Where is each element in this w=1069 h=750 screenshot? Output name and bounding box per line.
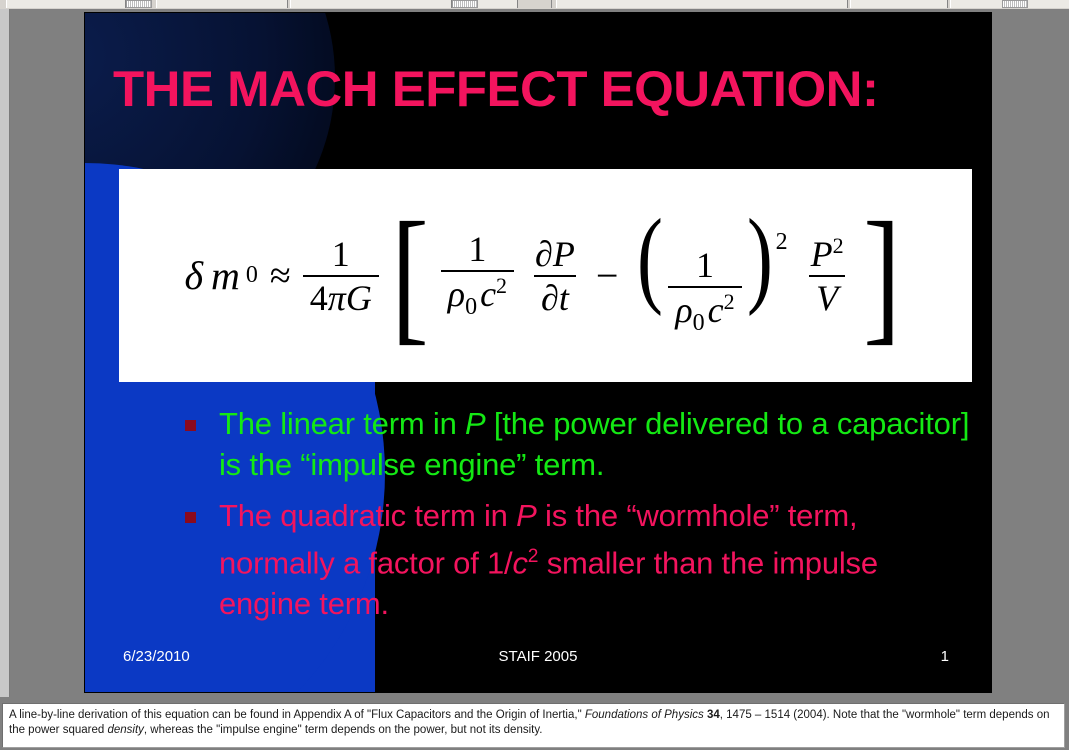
equation-image-box: δ m0 ≈ 1 4πG [ 1 ρ0c2 ∂P ∂t − [119,169,972,382]
term1-rho: ρ [448,274,465,314]
equation-prefactor: 1 4πG [303,236,379,316]
bullet-item-quadratic-term: The quadratic term in P is the “wormhole… [185,495,975,624]
toolbar-group-5[interactable] [556,0,848,8]
term2-inverse-rho-c2: 1 ρ0c2 [668,247,741,335]
equation-open-bracket: [ [391,214,428,337]
term2-V: V [809,275,845,316]
toolbar-group-6[interactable] [850,0,948,8]
bullet-list: The linear term in P [the power delivere… [185,403,975,634]
term2-paren-group: ( 1 ρ0c2 ) 2 [632,215,787,335]
caption-panel[interactable]: A line-by-line derivation of this equati… [2,703,1065,748]
term2-open-paren: ( [637,215,663,301]
derivative-partial-bottom: ∂ [541,278,559,318]
toolbar-chip-3[interactable] [1002,0,1028,8]
term2-P2-over-V: P2 V [804,235,851,316]
term2-rho: ρ [675,290,692,330]
derivative-t: t [559,278,569,318]
term2-numerator: 1 [689,247,721,286]
equation-relation: ≈ [264,254,297,298]
prefactor-pi: π [328,278,346,318]
caption-volume: 34 [707,709,720,721]
equation-mass-subscript: 0 [246,262,258,289]
toolbar-group-2[interactable] [156,0,288,8]
slide-title: THE MACH EFFECT EQUATION: [113,61,990,117]
toolbar-separator-1 [551,0,552,8]
bullet-text-quadratic: The quadratic term in P is the “wormhole… [219,495,975,624]
term2-close-paren: ) [747,215,773,301]
term2-paren-exponent: 2 [776,229,788,256]
equation-delta: δ [184,252,203,299]
prefactor-denominator: 4πG [303,275,379,316]
bullet-text-linear: The linear term in P [the power delivere… [219,403,975,485]
caption-text: A line-by-line derivation of this equati… [9,708,1059,738]
term1-c: c [480,274,496,314]
toolbar-group-3[interactable] [290,0,452,8]
left-rail [0,9,10,697]
footer-conference: STAIF 2005 [85,648,991,665]
toolbar-chip-1[interactable] [126,0,152,8]
derivative-partial-top: ∂ [535,234,553,274]
term2-c-exponent: 2 [724,289,735,314]
derivative-P: P [553,234,575,274]
caption-part1: A line-by-line derivation of this equati… [9,709,585,721]
prefactor-G: G [346,278,372,318]
term1-numerator: 1 [461,231,493,270]
term1-inverse-rho-c2: 1 ρ0c2 [441,231,514,319]
footer-page-number: 1 [941,648,949,665]
bullet2-var-P: P [516,498,536,533]
bullet2-var-c: c [512,545,527,580]
bullet-item-linear-term: The linear term in P [the power delivere… [185,403,975,485]
bullet1-part1: The linear term in [219,406,465,441]
caption-journal-title: Foundations of Physics [585,709,704,721]
bullet2-part1: The quadratic term in [219,498,516,533]
derivative-numerator: ∂P [528,236,582,275]
prefactor-numerator: 1 [325,236,357,275]
equation-minus-operator: − [588,252,627,299]
bullet-square-icon [185,420,196,431]
term2-P: P [811,234,833,274]
equation-close-bracket: ] [863,214,900,337]
bullet-square-icon [185,512,196,523]
term1-denominator: ρ0c2 [441,270,514,319]
prefactor-four: 4 [310,278,328,318]
toolbar-group-1[interactable] [6,0,126,8]
derivative-denominator: ∂t [534,275,576,316]
term2-c: c [708,290,724,330]
term1-c-exponent: 2 [496,273,507,298]
mach-effect-equation: δ m0 ≈ 1 4πG [ 1 ρ0c2 ∂P ∂t − [119,169,972,382]
caption-emph-density: density [107,724,143,736]
caption-part3: , whereas the "impulse engine" term depe… [144,724,543,736]
term2-rho-subscript: 0 [693,311,705,337]
term1-partial-derivative: ∂P ∂t [528,236,582,316]
term2-denominator: ρ0c2 [668,286,741,335]
toolbar-chip-2[interactable] [452,0,478,8]
equation-mass-var: m [211,252,240,299]
slide-canvas[interactable]: THE MACH EFFECT EQUATION: δ m0 ≈ 1 4πG [… [85,13,991,692]
bullet2-c-exponent: 2 [528,546,538,567]
term2-P-exponent: 2 [833,233,844,258]
term2-P2: P2 [804,235,851,275]
bullet1-var-P: P [465,406,485,441]
term1-rho-subscript: 0 [465,295,477,321]
slide-footer: 6/23/2010 STAIF 2005 1 [85,648,991,672]
